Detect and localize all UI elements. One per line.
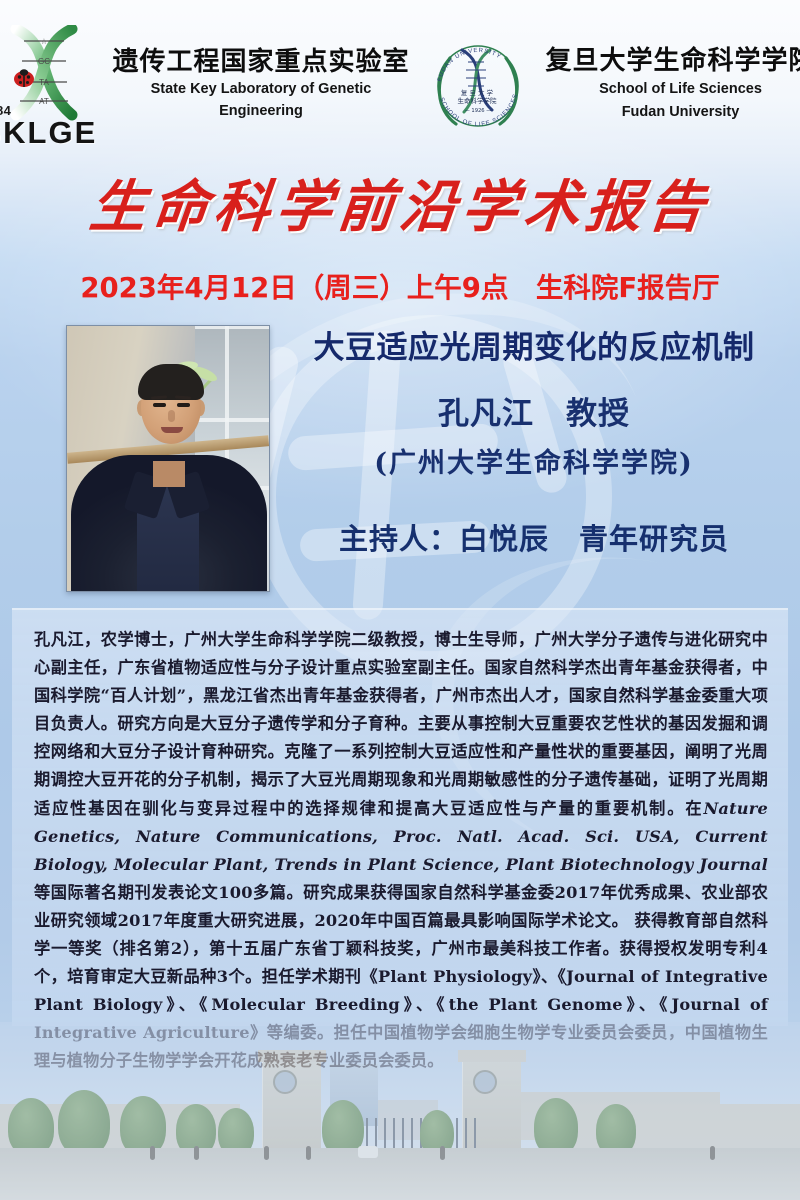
- fudan-logo: 复 旦 大 学 生命科学学院 — 1926 — FUDAN UNIVERSITY…: [426, 28, 530, 140]
- event-datetime-venue: 2023年4月12日（周三）上午9点 生科院F报告厅: [0, 265, 800, 305]
- photo-tower-cap: [258, 1050, 326, 1062]
- fudan-title-block: 复旦大学生命科学学院 School of Life Sciences Fudan…: [546, 47, 800, 120]
- svg-text:☆: ☆: [41, 37, 48, 46]
- speaker-affiliation: (广州大学生命科学学院): [284, 441, 784, 480]
- fudan-title-cn: 复旦大学生命科学学院: [546, 47, 800, 76]
- portrait-mouth: [161, 427, 183, 433]
- talk-info-block: 大豆适应光周期变化的反应机制 孔凡江 教授 (广州大学生命科学学院) 主持人：白…: [284, 330, 784, 558]
- fudan-title-en-line2: Fudan University: [546, 103, 800, 121]
- talk-title: 大豆适应光周期变化的反应机制: [284, 330, 784, 368]
- photo-person: [264, 1146, 269, 1160]
- portrait-eye-right: [177, 403, 190, 407]
- sklge-title-en-line2: Engineering: [112, 103, 409, 120]
- fudan-title-en-line1: School of Life Sciences: [546, 80, 800, 98]
- photo-person: [710, 1146, 715, 1160]
- portrait-nose: [168, 410, 175, 422]
- photo-person: [150, 1146, 155, 1160]
- svg-text:GC: GC: [38, 57, 50, 66]
- photo-person: [306, 1146, 311, 1160]
- svg-text:AT: AT: [40, 97, 50, 106]
- sklge-title-cn: 遗传工程国家重点实验室: [112, 48, 409, 77]
- svg-text:TA: TA: [40, 78, 50, 87]
- campus-gate-photo: [0, 1022, 800, 1200]
- sklge-acronym: SKLGE: [0, 117, 97, 148]
- sklge-title-en-line1: State Key Laboratory of Genetic: [112, 81, 409, 98]
- photo-gate-tower-left: [262, 1060, 321, 1162]
- photo-plaza-ground: [0, 1148, 800, 1200]
- poster-header: ☆ GC TA AT 1984 SKLGE 遗传工程国家重点实验室 State …: [0, 0, 800, 168]
- portrait-neck: [153, 461, 185, 487]
- sklge-logo: ☆ GC TA AT 1984 SKLGE: [0, 21, 102, 147]
- photo-tree: [58, 1090, 110, 1156]
- window-mullion: [195, 326, 269, 329]
- portrait-eye-left: [153, 403, 166, 407]
- ladybug-icon: [12, 69, 36, 88]
- speaker-bio-paragraph: 孔凡江，农学博士，广州大学生命科学学院二级教授，博士生导师，广州大学分子遗传与进…: [34, 626, 768, 1076]
- host-line: 主持人：白悦辰 青年研究员: [284, 516, 784, 558]
- sklge-title-block: 遗传工程国家重点实验室 State Key Laboratory of Gene…: [112, 48, 409, 120]
- photo-person: [194, 1146, 199, 1160]
- photo-tree: [120, 1096, 166, 1156]
- fudan-seal-icon: 复 旦 大 学 生命科学学院 — 1926 — FUDAN UNIVERSITY…: [426, 28, 530, 140]
- photo-car: [358, 1146, 378, 1158]
- poster-main-title: 生命科学前沿学术报告: [0, 178, 800, 237]
- speaker-name: 孔凡江 教授: [284, 388, 784, 433]
- speaker-portrait: [66, 325, 270, 592]
- svg-text:FUDAN UNIVERSITY: FUDAN UNIVERSITY: [436, 48, 501, 82]
- seminar-poster: ☆ GC TA AT 1984 SKLGE 遗传工程国家重点实验室 State …: [0, 0, 800, 1200]
- speaker-bio-box: 孔凡江，农学博士，广州大学生命科学学院二级教授，博士生导师，广州大学分子遗传与进…: [12, 608, 788, 1026]
- photo-tower-cap: [458, 1050, 526, 1062]
- photo-person: [440, 1146, 445, 1160]
